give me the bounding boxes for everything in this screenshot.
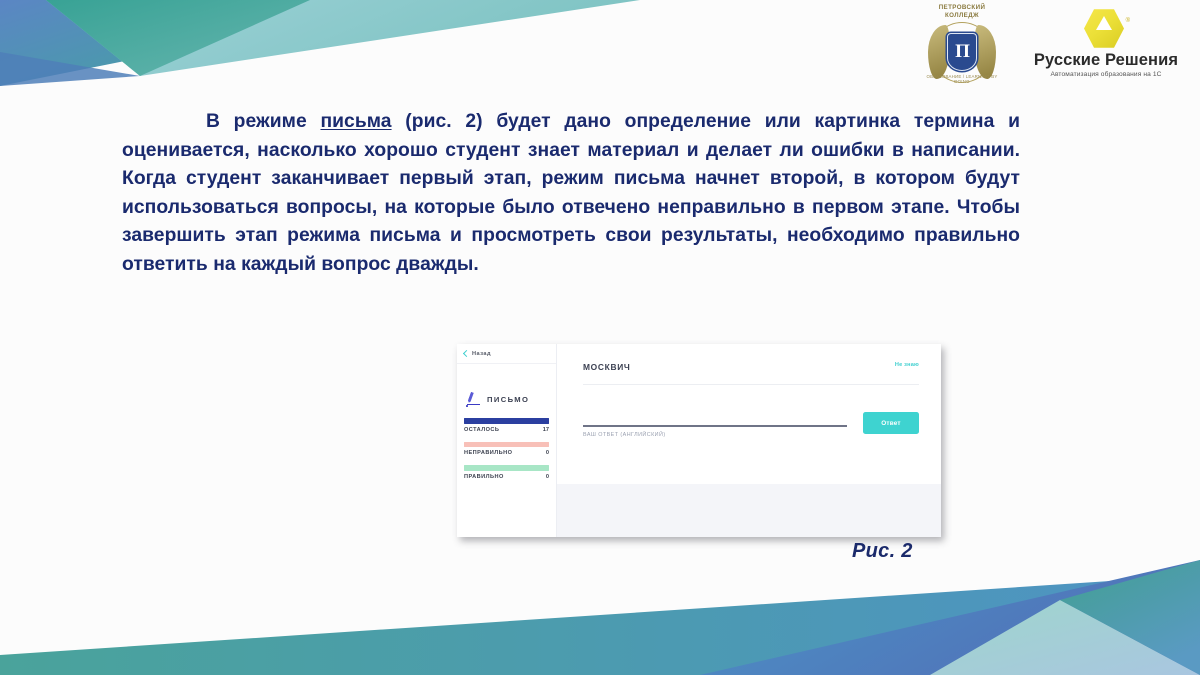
petrovsky-college-logo: ПЕТРОВСКИЙ КОЛЛЕДЖ П ОБРАЗОВАНИЕ / LEARN…	[914, 4, 1010, 83]
pen-nib	[467, 392, 474, 403]
progress-stats: ОСТАЛОСЬ 17 НЕПРАВИЛЬНО 0 ПРАВИЛЬНО	[457, 418, 556, 489]
stat-bar-incorrect	[464, 442, 549, 448]
question-card: МОСКВИЧ Не знаю ВАШ ОТВЕТ (АНГЛИЙСКИЙ) О…	[557, 344, 941, 484]
russian-solutions-logo: ® Русские Решения Автоматизация образова…	[1026, 9, 1186, 79]
college-emblem-icon: П ОБРАЗОВАНИЕ / LEARNING BY DOING	[925, 21, 999, 83]
app-sidebar: Назад ПИСЬМО ОСТАЛОСЬ 17	[457, 344, 557, 537]
mode-indicator: ПИСЬМО	[457, 364, 556, 418]
app-main-area: МОСКВИЧ Не знаю ВАШ ОТВЕТ (АНГЛИЙСКИЙ) О…	[557, 344, 941, 537]
stat-label: ПРАВИЛЬНО	[464, 474, 504, 480]
wreath-right-icon	[974, 25, 996, 79]
paragraph-emphasis: письма	[320, 111, 391, 132]
stat-label: НЕПРАВИЛЬНО	[464, 450, 512, 456]
emblem-ribbon-text: ОБРАЗОВАНИЕ / LEARNING BY DOING	[925, 74, 999, 84]
figure-caption: Рис. 2	[852, 540, 913, 563]
submit-answer-button[interactable]: Ответ	[863, 412, 919, 434]
stat-remaining: ОСТАЛОСЬ 17	[464, 418, 549, 433]
header-logo-bar: ПЕТРОВСКИЙ КОЛЛЕДЖ П ОБРАЗОВАНИЕ / LEARN…	[914, 4, 1186, 83]
presentation-slide: ПЕТРОВСКИЙ КОЛЛЕДЖ П ОБРАЗОВАНИЕ / LEARN…	[0, 0, 1200, 675]
back-link[interactable]: Назад	[457, 344, 556, 364]
stat-incorrect: НЕПРАВИЛЬНО 0	[464, 442, 549, 457]
mode-label: ПИСЬМО	[487, 395, 529, 404]
stat-label: ОСТАЛОСЬ	[464, 427, 499, 433]
card-divider	[583, 384, 919, 385]
decorative-background	[0, 0, 1200, 675]
college-logo-title: ПЕТРОВСКИЙ КОЛЛЕДЖ	[939, 4, 986, 20]
company-name: Русские Решения	[1034, 52, 1178, 69]
paragraph-prefix: В режиме	[206, 111, 320, 132]
chevron-left-icon	[463, 350, 470, 357]
stat-row: НЕПРАВИЛЬНО 0	[464, 450, 549, 456]
slide-body-paragraph: В режиме письма (рис. 2) будет дано опре…	[122, 108, 1020, 280]
stat-row: ПРАВИЛЬНО 0	[464, 474, 549, 480]
monogram: П	[955, 42, 969, 61]
stat-value: 17	[543, 427, 549, 433]
shield-icon: П	[947, 33, 977, 71]
stat-value: 0	[546, 450, 549, 456]
pen-dot	[466, 405, 468, 407]
dont-know-link[interactable]: Не знаю	[895, 362, 919, 368]
stat-value: 0	[546, 474, 549, 480]
answer-zone: ВАШ ОТВЕТ (АНГЛИЙСКИЙ) Ответ	[583, 412, 919, 438]
answer-input-group[interactable]: ВАШ ОТВЕТ (АНГЛИЙСКИЙ)	[583, 425, 847, 438]
stat-bar-correct	[464, 465, 549, 471]
question-term: МОСКВИЧ	[583, 362, 631, 372]
registered-mark: ®	[1126, 18, 1130, 24]
stat-row: ОСТАЛОСЬ 17	[464, 427, 549, 433]
stat-correct: ПРАВИЛЬНО 0	[464, 465, 549, 480]
paragraph-rest: (рис. 2) будет дано определение или карт…	[122, 111, 1020, 275]
question-header: МОСКВИЧ Не знаю	[583, 362, 919, 372]
hexagon-logo-icon: ®	[1084, 9, 1128, 49]
triangle-cutout-icon	[1096, 16, 1112, 30]
stat-bar-remaining	[464, 418, 549, 424]
pen-underline	[467, 404, 480, 405]
answer-input-underline	[583, 425, 847, 427]
company-tagline: Автоматизация образования на 1С	[1050, 71, 1161, 78]
pen-write-icon	[466, 392, 481, 406]
back-link-label: Назад	[472, 351, 491, 357]
answer-input-placeholder: ВАШ ОТВЕТ (АНГЛИЙСКИЙ)	[583, 432, 847, 438]
embedded-app-screenshot: Назад ПИСЬМО ОСТАЛОСЬ 17	[457, 344, 941, 537]
